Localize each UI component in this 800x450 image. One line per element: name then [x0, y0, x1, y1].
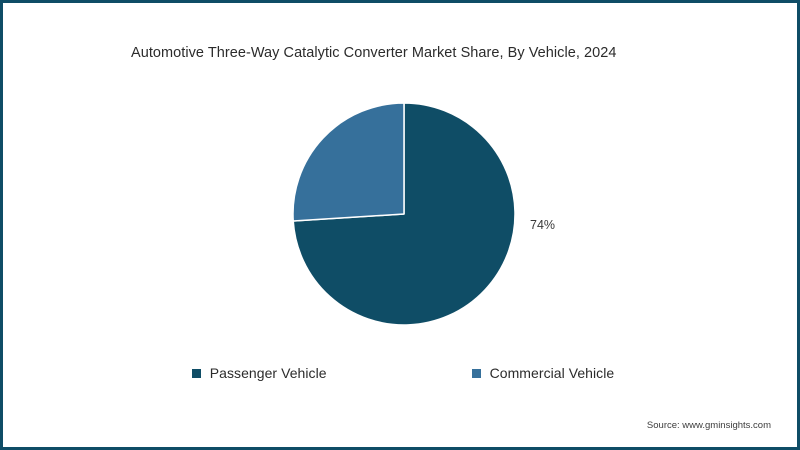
legend-item-label: Commercial Vehicle	[490, 365, 615, 381]
pie-slice[interactable]	[293, 103, 515, 325]
legend-item-label: Passenger Vehicle	[210, 365, 327, 381]
legend-swatch-icon	[192, 369, 201, 378]
pie-slice[interactable]	[293, 103, 404, 221]
chart-title: Automotive Three-Way Catalytic Converter…	[131, 45, 616, 61]
pie-slice-label-passenger-vehicle: 74%	[530, 218, 555, 232]
pie-chart	[3, 3, 800, 450]
pie-slice-group	[293, 103, 515, 325]
chart-legend: Passenger Vehicle Commercial Vehicle	[3, 365, 800, 381]
legend-swatch-icon	[472, 369, 481, 378]
pie-chart-svg	[3, 3, 800, 450]
chart-card: Automotive Three-Way Catalytic Converter…	[0, 0, 800, 450]
legend-item-commercial-vehicle[interactable]: Commercial Vehicle	[472, 365, 615, 381]
legend-item-passenger-vehicle[interactable]: Passenger Vehicle	[192, 365, 327, 381]
source-attribution: Source: www.gminsights.com	[647, 420, 771, 431]
